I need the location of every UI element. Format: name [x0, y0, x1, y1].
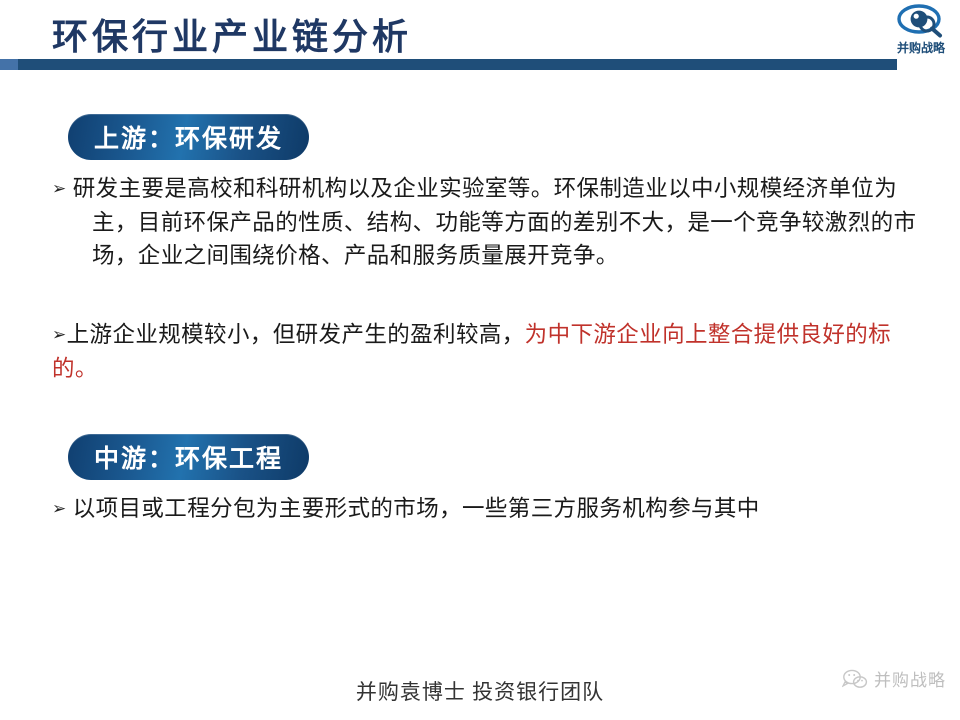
bullet-marker: ➢: [52, 325, 67, 345]
brand-logo: 并购战略: [888, 4, 954, 62]
bullet-paragraph-2: ➢上游企业规模较小，但研发产生的盈利较高，为中下游企业向上整合提供良好的标的。: [52, 318, 930, 385]
section-pill-midstream: 中游：环保工程: [68, 434, 309, 480]
bullet-text-3: 以项目或工程分包为主要形式的市场，一些第三方服务机构参与其中: [73, 496, 760, 521]
watermark-label: 并购战略: [874, 666, 946, 691]
bullet-text-2-plain: 上游企业规模较小，但研发产生的盈利较高，: [67, 322, 525, 347]
page-title: 环保行业产业链分析: [52, 8, 412, 60]
section-pill-midstream-label: 中游：环保工程: [94, 439, 283, 475]
wechat-icon: [842, 668, 868, 690]
watermark: 并购战略: [842, 666, 946, 691]
slide-canvas: 环保行业产业链分析 并购战略 上游：环保研发 ➢ 研发主要是高校和科研机构以及企…: [0, 0, 960, 720]
footer-attribution: 并购袁博士 投资银行团队: [0, 676, 960, 706]
slide-header: 环保行业产业链分析: [0, 0, 960, 80]
bullet-paragraph-1: ➢ 研发主要是高校和科研机构以及企业实验室等。环保制造业以中小规模经济单位为主，…: [52, 172, 922, 272]
eye-magnifier-icon: [897, 4, 945, 38]
title-divider-cap: [0, 59, 18, 70]
brand-logo-label: 并购战略: [897, 39, 945, 56]
bullet-paragraph-3: ➢ 以项目或工程分包为主要形式的市场，一些第三方服务机构参与其中: [52, 492, 932, 526]
title-divider: [0, 59, 897, 70]
bullet-text-1: 研发主要是高校和科研机构以及企业实验室等。环保制造业以中小规模经济单位为主，目前…: [73, 176, 917, 268]
section-pill-upstream-label: 上游：环保研发: [94, 119, 283, 155]
bullet-marker: ➢: [52, 179, 67, 199]
bullet-marker: ➢: [52, 499, 67, 519]
section-pill-upstream: 上游：环保研发: [68, 114, 309, 160]
